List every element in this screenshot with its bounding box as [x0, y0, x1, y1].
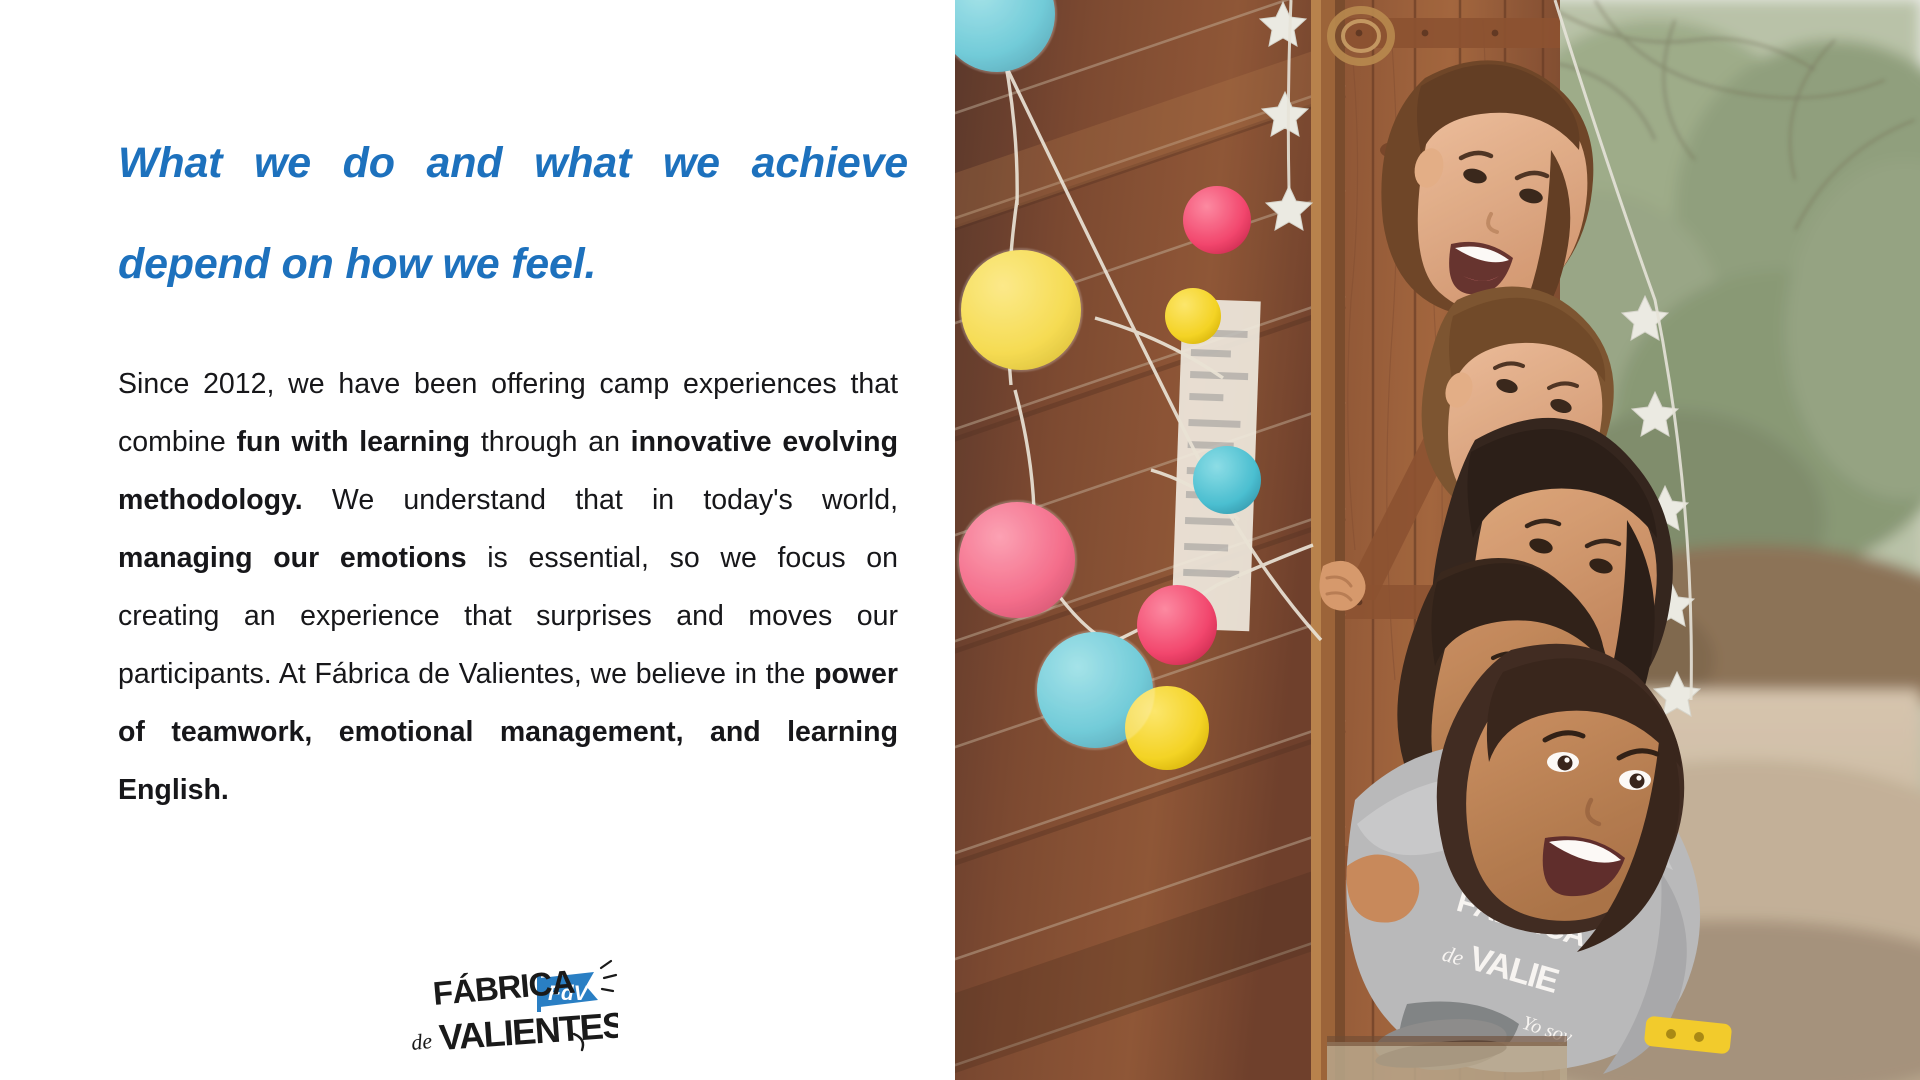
body-strong-run: managing our emotions — [118, 542, 467, 574]
body-paragraph: Since 2012, we have been offering camp e… — [118, 355, 898, 819]
svg-text:VALIENTES: VALIENTES — [438, 1004, 618, 1058]
page-title: What we do and what we achieve depend on… — [118, 138, 908, 290]
page-title-line-2: depend on how we feel. — [118, 239, 908, 290]
body-strong-run: fun with learning — [236, 426, 470, 458]
svg-text:de: de — [410, 1028, 433, 1055]
body-text-run: through an — [470, 426, 631, 458]
fabrica-de-valientes-logo: FdV FÁBRICA de VALIENTES — [398, 958, 618, 1063]
body-text-run: We understand that in today's world, — [303, 484, 898, 516]
hero-photo: FÁBRICA de VALIE Yo soy — [955, 0, 1920, 1080]
text-panel: What we do and what we achieve depend on… — [0, 0, 955, 1080]
slide-root: What we do and what we achieve depend on… — [0, 0, 1920, 1080]
page-title-line-1: What we do and what we achieve — [118, 138, 908, 239]
